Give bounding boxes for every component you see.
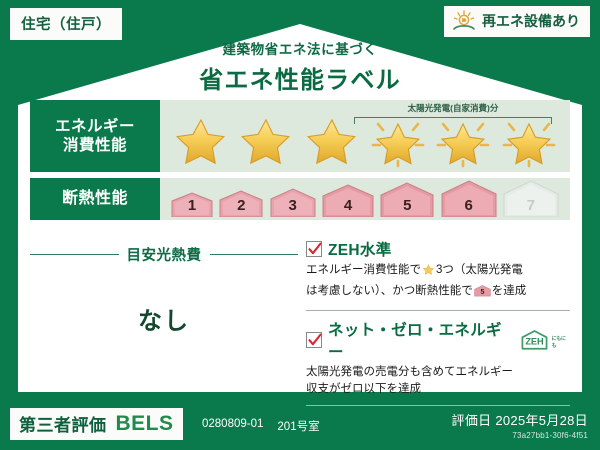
evaluation-date-block: 評価日 2025年5月28日 73a27bb1-30f6-4f51 (452, 410, 588, 440)
insulation-grade-number: 7 (502, 197, 560, 214)
desc-part-1: エネルギー消費性能で (306, 264, 421, 276)
energy-performance-key: エネルギー 消費性能 (30, 100, 160, 172)
insulation-performance-key: 断熱性能 (30, 178, 160, 220)
insulation-label: 断熱性能 (62, 189, 128, 209)
svg-text:5: 5 (480, 289, 484, 296)
desc-part-4: を達成 (492, 285, 527, 297)
evaluation-date-value: 2025年5月28日 (495, 413, 588, 428)
evaluation-date-label: 評価日 (452, 413, 492, 428)
insulation-grade-number: 2 (218, 197, 264, 214)
bels-meta: 0280809-01 201号室 (202, 418, 320, 434)
insulation-grade-badge: 3 (269, 187, 317, 217)
check-header: ZEH水準 (306, 238, 570, 260)
housing-type-tag: 住宅（住戸） (10, 8, 122, 40)
utility-cost-value: なし (30, 301, 298, 336)
page-title: 省エネ性能ラベル (0, 60, 600, 95)
check-item-net-zero-energy: ネット・ゼロ・エネルギー ZEH にもにも 太陽光発電の売電分も含めてエネルギー… (306, 318, 570, 400)
star-solar-icon (500, 114, 558, 168)
bels-brand: BELS (116, 412, 174, 436)
inline-star-icon (422, 267, 435, 279)
checkbox-checked[interactable] (306, 332, 322, 348)
document-hash: 73a27bb1-30f6-4f51 (452, 431, 588, 440)
insulation-grade-badge: 4 (321, 183, 375, 217)
insulation-grade-badge-inactive: 7 (502, 179, 560, 217)
checkbox-checked[interactable] (306, 241, 322, 257)
star-icon (237, 114, 295, 168)
utility-cost-section: 目安光熱費 なし (30, 238, 298, 390)
insulation-grade-badge: 5 (379, 181, 435, 217)
insulation-grade-number: 4 (321, 197, 375, 214)
check-header: ネット・ゼロ・エネルギー ZEH にもにも (306, 318, 570, 362)
insulation-grade-number: 6 (440, 197, 498, 214)
lower-section: 目安光熱費 なし ZEH水準 エネルギー消費性能で3つ（太陽光発電は考慮しない）… (30, 238, 570, 390)
desc-part-3: は考慮しない）、かつ断熱性能で (306, 285, 473, 297)
desc-part-1: 太陽光発電の売電分も含めてエネルギー (306, 366, 513, 378)
title-block: 建築物省エネ法に基づく 省エネ性能ラベル (0, 38, 600, 95)
star-rating (168, 114, 562, 168)
svg-text:ZEH: ZEH (526, 336, 544, 346)
section-divider (306, 310, 570, 311)
star-solar-icon (434, 114, 492, 168)
insulation-grade-number: 5 (379, 197, 435, 214)
insulation-performance-row: 断熱性能 1 2 3 (30, 178, 570, 220)
room-number: 201号室 (277, 418, 319, 434)
insulation-grade-badge: 6 (440, 179, 498, 217)
check-description: エネルギー消費性能で3つ（太陽光発電は考慮しない）、かつ断熱性能で5を達成 (306, 262, 570, 304)
check-title: ZEH水準 (328, 238, 392, 260)
check-title: ネット・ゼロ・エネルギー (328, 318, 511, 362)
rule-left (30, 254, 119, 255)
title-subtitle: 建築物省エネ法に基づく (0, 38, 600, 58)
utility-cost-heading: 目安光熱費 (30, 244, 298, 265)
rule-right (210, 254, 299, 255)
energy-label-card: 住宅（住戸） 再エネ設備あり 建築物省エネ法に基づく 省エネ性能ラベル (0, 0, 600, 450)
utility-cost-label: 目安光熱費 (127, 244, 202, 265)
inline-grade-badge-icon: 5 (474, 288, 491, 300)
insulation-grade-badge: 1 (170, 191, 214, 217)
star-icon (172, 114, 230, 168)
insulation-grade-badge: 2 (218, 189, 264, 217)
desc-part-2: 3つ（太陽光発電 (436, 264, 523, 276)
insulation-grade-scale: 1 2 3 4 (170, 178, 560, 220)
energy-label-line2: 消費性能 (63, 136, 127, 155)
insulation-performance-value: 1 2 3 4 (160, 178, 570, 220)
zeh-logo-caption: にもにも (551, 335, 570, 351)
check-item-zeh-standard: ZEH水準 エネルギー消費性能で3つ（太陽光発電は考慮しない）、かつ断熱性能で5… (306, 238, 570, 304)
star-solar-icon (369, 114, 427, 168)
insulation-grade-number: 3 (269, 197, 317, 214)
performance-block: エネルギー 消費性能 太陽光発電(自家消費)分 (30, 100, 570, 220)
renewable-energy-tag: 再エネ設備あり (444, 6, 590, 37)
energy-performance-row: エネルギー 消費性能 太陽光発電(自家消費)分 (30, 100, 570, 172)
solar-bracket-label: 太陽光発電(自家消費)分 (352, 102, 554, 114)
footer-bar: 第三者評価 BELS 0280809-01 201号室 評価日 2025年5月2… (0, 392, 600, 450)
bels-badge: 第三者評価 BELS (10, 408, 183, 440)
energy-label-line1: エネルギー (55, 117, 135, 136)
zeh-logo: ZEH にもにも (520, 329, 570, 351)
bels-evaluation-label: 第三者評価 (19, 411, 107, 436)
energy-performance-value: 太陽光発電(自家消費)分 (160, 100, 570, 172)
insulation-grade-number: 1 (170, 197, 214, 214)
bels-number: 0280809-01 (202, 418, 263, 434)
housing-type-label: 住宅（住戸） (21, 13, 111, 34)
renewable-energy-label: 再エネ設備あり (482, 11, 580, 31)
evaluation-date: 評価日 2025年5月28日 (452, 410, 588, 429)
star-icon (303, 114, 361, 168)
sun-icon (451, 10, 477, 32)
certification-section: ZEH水準 エネルギー消費性能で3つ（太陽光発電は考慮しない）、かつ断熱性能で5… (298, 238, 570, 390)
